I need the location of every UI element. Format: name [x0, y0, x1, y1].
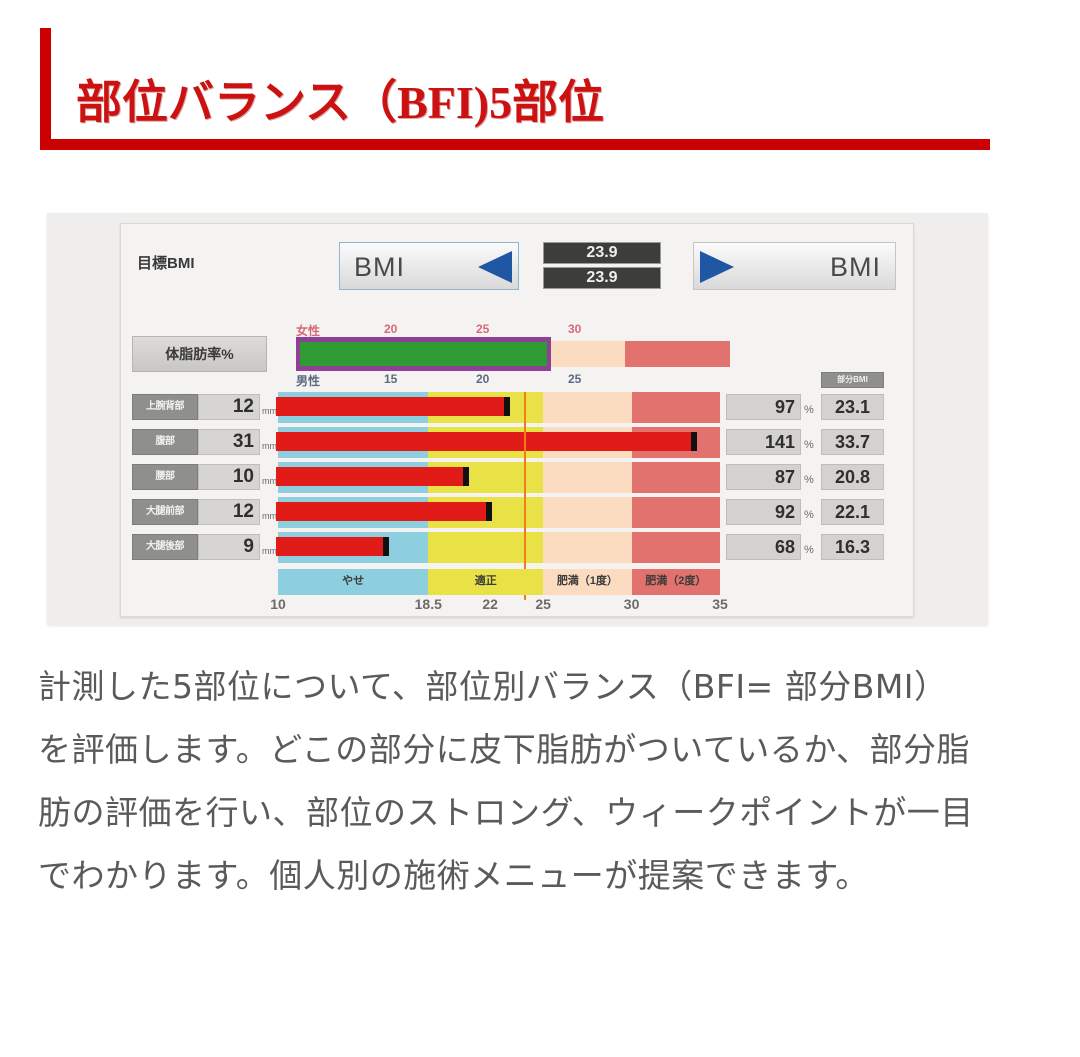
table-row: 上腕背部12mm97%23.1	[121, 392, 913, 423]
bodyfat-female-tick-30: 30	[568, 322, 581, 336]
table-row: 腰部10mm87%20.8	[121, 462, 913, 493]
bmi-button-right[interactable]: BMI	[693, 242, 896, 290]
band-segment	[543, 462, 631, 493]
triangle-left-icon	[478, 251, 512, 283]
row-bmi-marker	[383, 537, 389, 556]
bodyfat-bar-peach	[551, 341, 625, 367]
row-site-label: 腰部	[132, 464, 198, 490]
bodyfat-male-tick-25: 25	[568, 372, 581, 386]
row-percent-unit: %	[804, 509, 814, 521]
row-mm-unit: mm	[262, 406, 277, 416]
bmi-button-left[interactable]: BMI	[339, 242, 519, 290]
chart-inner-panel: 目標BMI BMI 23.9 23.9 BMI 体脂肪率% 女性202530男性…	[120, 223, 914, 617]
row-partial-bmi: 22.1	[821, 499, 884, 525]
band-segment	[543, 392, 631, 423]
bodyfat-male-tick-20: 20	[476, 372, 489, 386]
row-bmi-marker	[504, 397, 510, 416]
bmi-column-header: 部分BMI	[821, 372, 884, 388]
bmi-button-right-label: BMI	[830, 252, 881, 283]
description-text: 計測した5部位について、部位別バランス（BFI= 部分BMI）を評価します。どこ…	[38, 655, 978, 907]
row-skinfold-mm: 9	[198, 534, 260, 560]
table-row: 大腿後部9mm68%16.3	[121, 532, 913, 563]
row-bmi-marker	[691, 432, 697, 451]
table-row: 大腿前部12mm92%22.1	[121, 497, 913, 528]
row-site-label: 大腿前部	[132, 499, 198, 525]
row-site-label: 大腿後部	[132, 534, 198, 560]
axis-tick-18.5: 18.5	[415, 596, 442, 612]
bodyfat-female-tick-20: 20	[384, 322, 397, 336]
table-row: 腹部31mm141%33.7	[121, 427, 913, 458]
axis-tick-25: 25	[535, 596, 551, 612]
target-bmi-value-bottom: 23.9	[543, 267, 661, 289]
legend-segment: 肥満（1度）	[543, 569, 631, 595]
axis-tick-35: 35	[712, 596, 728, 612]
row-bmi-bar	[276, 537, 389, 556]
bodyfat-female-tick-25: 25	[476, 322, 489, 336]
page-title-block: 部位バランス（BFI)5部位	[40, 28, 990, 150]
row-percent-unit: %	[804, 404, 814, 416]
goal-bmi-label: 目標BMI	[137, 252, 195, 273]
bodyfat-male-label: 男性	[296, 372, 320, 389]
legend-segment: 肥満（2度）	[632, 569, 720, 595]
row-bmi-bar	[276, 467, 469, 486]
bodyfat-bar-salmon	[625, 341, 730, 367]
bodyfat-bar-green-fill	[300, 342, 547, 366]
row-percent-unit: %	[804, 439, 814, 451]
row-bmi-bar	[276, 432, 697, 451]
band-segment	[632, 462, 720, 493]
row-partial-bmi: 20.8	[821, 464, 884, 490]
row-partial-bmi: 33.7	[821, 429, 884, 455]
band-segment	[632, 532, 720, 563]
row-skinfold-mm: 10	[198, 464, 260, 490]
bodyfat-bar-track	[296, 337, 730, 371]
chart-panel: 目標BMI BMI 23.9 23.9 BMI 体脂肪率% 女性202530男性…	[47, 213, 988, 625]
target-bmi-value-top: 23.9	[543, 242, 661, 264]
bmi-button-left-label: BMI	[354, 252, 405, 283]
title-accent-bar-bottom	[40, 139, 990, 150]
axis-tick-30: 30	[624, 596, 640, 612]
row-site-label: 腹部	[132, 429, 198, 455]
band-legend: やせ適正肥満（1度）肥満（2度）	[278, 569, 720, 595]
row-balance-percent: 92	[726, 499, 801, 525]
legend-segment: 適正	[428, 569, 543, 595]
row-bmi-marker	[463, 467, 469, 486]
row-skinfold-mm: 12	[198, 499, 260, 525]
row-bmi-bar	[276, 502, 492, 521]
band-segment	[543, 532, 631, 563]
bodyfat-male-tick-15: 15	[384, 372, 397, 386]
band-segment	[428, 532, 543, 563]
title-accent-bar-left	[40, 28, 51, 150]
row-bmi-bar	[276, 397, 510, 416]
bodyfat-percent-label: 体脂肪率%	[132, 336, 267, 372]
row-partial-bmi: 23.1	[821, 394, 884, 420]
row-balance-percent: 87	[726, 464, 801, 490]
row-percent-unit: %	[804, 474, 814, 486]
row-balance-percent: 141	[726, 429, 801, 455]
band-segment	[632, 392, 720, 423]
row-site-label: 上腕背部	[132, 394, 198, 420]
row-bmi-marker	[486, 502, 492, 521]
row-mm-unit: mm	[262, 546, 277, 556]
legend-segment: やせ	[278, 569, 428, 595]
page-title: 部位バランス（BFI)5部位	[76, 66, 604, 132]
band-segment	[543, 497, 631, 528]
x-axis-ticks: 1018.522253035	[278, 596, 778, 616]
row-balance-percent: 97	[726, 394, 801, 420]
bodyfat-bar-green	[296, 337, 551, 371]
row-percent-unit: %	[804, 544, 814, 556]
band-segment	[632, 497, 720, 528]
row-balance-percent: 68	[726, 534, 801, 560]
row-partial-bmi: 16.3	[821, 534, 884, 560]
row-skinfold-mm: 31	[198, 429, 260, 455]
row-mm-unit: mm	[262, 441, 277, 451]
triangle-right-icon	[700, 251, 734, 283]
row-mm-unit: mm	[262, 476, 277, 486]
row-mm-unit: mm	[262, 511, 277, 521]
axis-tick-10: 10	[270, 596, 286, 612]
axis-tick-22: 22	[482, 596, 498, 612]
row-skinfold-mm: 12	[198, 394, 260, 420]
measurement-rows: 上腕背部12mm97%23.1腹部31mm141%33.7腰部10mm87%20…	[121, 392, 913, 567]
